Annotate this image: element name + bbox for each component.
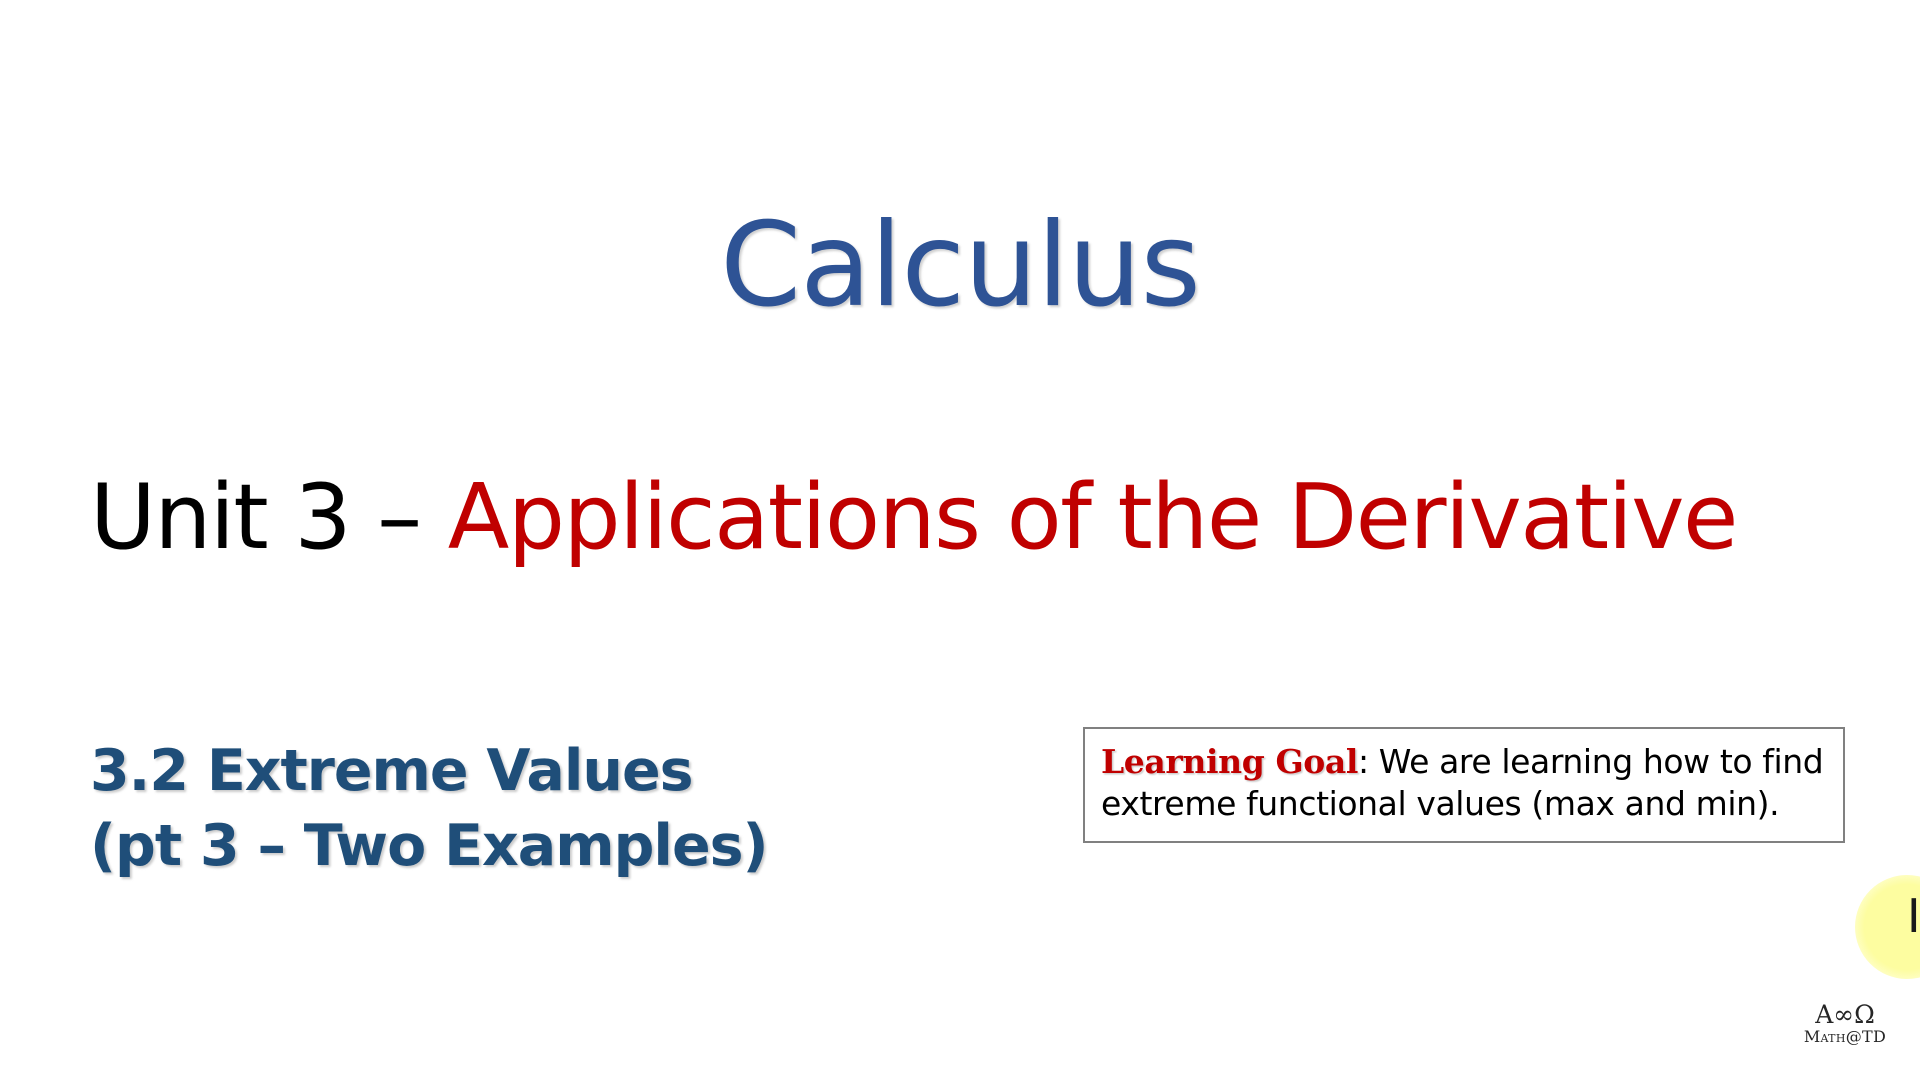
section-heading-line-1: 3.2 Extreme Values <box>90 734 870 809</box>
logo-wordmark: Math@TD <box>1790 1028 1900 1046</box>
learning-goal-separator: : <box>1358 742 1379 781</box>
unit-topic-text: Applications of the Derivative <box>448 465 1737 570</box>
yellow-highlight-circle-icon: І <box>1855 875 1920 979</box>
logo: A∞Ω Math@TD <box>1790 1002 1900 1047</box>
marker-glyph: І <box>1907 893 1920 939</box>
unit-subtitle: Unit 3 – Applications of the Derivative <box>90 468 1850 567</box>
section-heading-line-2: (pt 3 – Two Examples) <box>90 809 870 884</box>
learning-goal-text: Learning Goal: We are learning how to fi… <box>1101 741 1829 824</box>
slide-canvas: Calculus Unit 3 – Applications of the De… <box>0 0 1920 1080</box>
learning-goal-callout: Learning Goal: We are learning how to fi… <box>1083 727 1845 843</box>
unit-prefix-text: Unit 3 – <box>90 465 448 570</box>
page-title: Calculus <box>0 208 1920 324</box>
section-heading: 3.2 Extreme Values (pt 3 – Two Examples) <box>90 734 870 884</box>
logo-symbols: A∞Ω <box>1790 1002 1900 1028</box>
learning-goal-label: Learning Goal <box>1101 742 1358 781</box>
